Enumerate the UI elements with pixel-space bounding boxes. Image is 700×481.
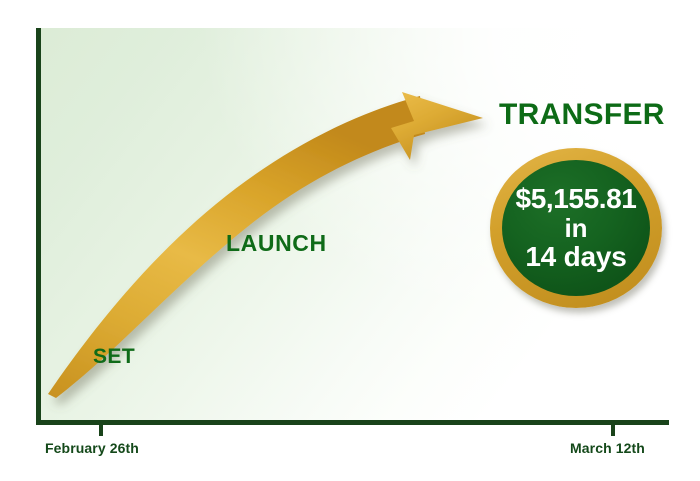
axis-tick-start <box>99 425 103 436</box>
badge-amount: $5,155.81 <box>516 185 637 213</box>
stage-label-transfer: TRANSFER <box>499 98 665 132</box>
axis-tick-end <box>611 425 615 436</box>
badge-connector: in <box>564 215 587 241</box>
value-axis <box>36 28 41 425</box>
axis-label-start: February 26th <box>45 440 139 456</box>
badge-period: 14 days <box>525 243 626 271</box>
chart-canvas: February 26th March 12th SET LAUNCH TRAN… <box>0 0 700 481</box>
result-badge-inner: $5,155.81 in 14 days <box>502 160 650 296</box>
stage-label-set: SET <box>93 345 135 369</box>
axis-label-end: March 12th <box>570 440 645 456</box>
result-badge: $5,155.81 in 14 days <box>490 148 662 308</box>
time-axis <box>36 420 669 425</box>
stage-label-launch: LAUNCH <box>226 230 327 257</box>
